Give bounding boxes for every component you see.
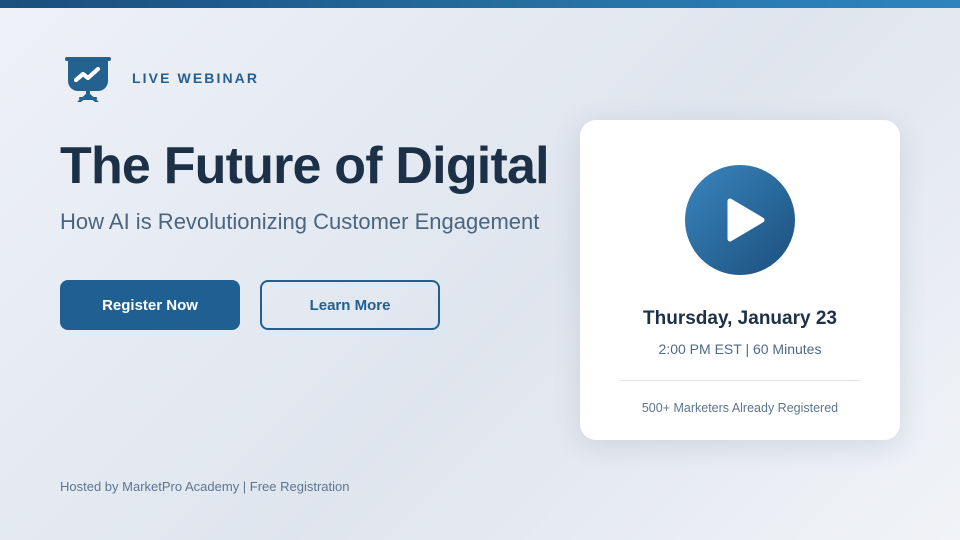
event-date: Thursday, January 23 bbox=[643, 308, 837, 330]
page-title: The Future of Digital bbox=[60, 137, 549, 197]
top-accent-bar bbox=[0, 0, 960, 8]
event-time: 2:00 PM EST | 60 Minutes bbox=[659, 341, 822, 357]
cta-button-group: Register Now Learn More bbox=[60, 280, 440, 330]
event-details-card: Thursday, January 23 2:00 PM EST | 60 Mi… bbox=[580, 120, 900, 440]
brand-label: LIVE WEBINAR bbox=[132, 70, 259, 86]
footer-note: Hosted by MarketPro Academy | Free Regis… bbox=[60, 479, 350, 494]
register-now-button[interactable]: Register Now bbox=[60, 280, 240, 330]
brand-row: LIVE WEBINAR bbox=[60, 50, 259, 106]
presentation-chart-icon bbox=[60, 50, 116, 106]
page-subtitle: How AI is Revolutionizing Customer Engag… bbox=[60, 208, 539, 237]
play-button-icon[interactable] bbox=[685, 165, 795, 275]
event-social-proof: 500+ Marketers Already Registered bbox=[642, 401, 838, 415]
card-divider bbox=[620, 380, 860, 381]
learn-more-button[interactable]: Learn More bbox=[260, 280, 440, 330]
